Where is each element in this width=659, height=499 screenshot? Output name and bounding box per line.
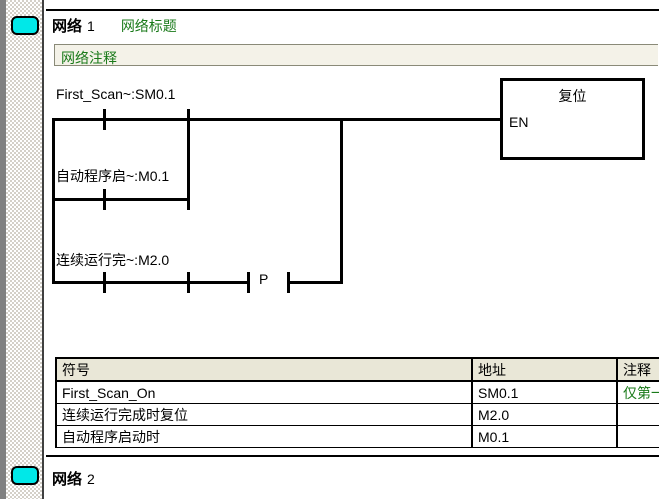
network-header-2[interactable]: 网络2 (52, 468, 95, 489)
network-header-1[interactable]: 网络1网络标题 (52, 15, 177, 36)
instruction-box-reset[interactable]: 复位 EN (500, 78, 645, 160)
network-marker-1[interactable] (11, 16, 39, 35)
column-header-symbol[interactable]: 符号 (57, 359, 473, 380)
symbol-table: 符号 地址 注释 First_Scan_On SM0.1 仅第一个扫 连续运行完… (55, 357, 659, 448)
cell-symbol[interactable]: 自动程序启动时 (57, 426, 473, 447)
table-row[interactable]: 自动程序启动时 M0.1 (57, 426, 659, 448)
left-gutter (0, 0, 44, 499)
gutter-hatch-pattern (6, 0, 42, 499)
network-number-1: 1 (87, 18, 95, 34)
instruction-box-en-label: EN (509, 114, 528, 130)
rung-3-wire-d (290, 281, 343, 284)
rung-1-wire-b (106, 118, 188, 121)
rung-3-wire-c (190, 281, 248, 284)
network-comment-text: 网络注释 (61, 48, 117, 68)
rung-1-wire-a (52, 118, 104, 121)
cell-symbol[interactable]: 连续运行完成时复位 (57, 404, 473, 425)
rung-2-wire-a (52, 198, 104, 201)
rung-3-wire-b (106, 281, 188, 284)
rung-2-operand[interactable]: 自动程序启~:M0.1 (56, 166, 169, 186)
rung-1-operand[interactable]: First_Scan~:SM0.1 (56, 86, 175, 102)
rung-1-wire-c (190, 118, 502, 121)
editor-content-pane: 网络1网络标题 网络注释 First_Scan~:SM0.1 自动程序启~:M0… (44, 0, 659, 499)
network-comment-box[interactable]: 网络注释 (54, 44, 658, 66)
positive-transition-icon: P (259, 271, 268, 287)
table-row[interactable]: First_Scan_On SM0.1 仅第一个扫 (57, 382, 659, 404)
instruction-box-title: 复位 (503, 86, 642, 106)
rung-2-wire-b (106, 198, 188, 201)
cell-comment[interactable]: 仅第一个扫 (618, 382, 659, 403)
network-marker-2[interactable] (11, 466, 39, 485)
ladder-editor-root: 网络1网络标题 网络注释 First_Scan~:SM0.1 自动程序启~:M0… (0, 0, 659, 499)
rung-2-contact-2[interactable] (187, 189, 190, 210)
rung-3-contact-3-left-bar[interactable] (247, 272, 250, 293)
column-header-comment[interactable]: 注释 (618, 359, 659, 380)
left-power-rail (52, 118, 55, 284)
branch-connector-1 (187, 118, 190, 200)
network-number-2: 2 (87, 471, 95, 487)
network-divider-bottom (46, 455, 659, 457)
cell-address[interactable]: SM0.1 (473, 382, 618, 403)
cell-comment[interactable] (618, 404, 659, 425)
network-divider-top (46, 9, 659, 11)
rung-3-wire-a (52, 281, 104, 284)
symbol-table-header-row: 符号 地址 注释 (57, 359, 659, 382)
cell-comment[interactable] (618, 426, 659, 447)
cell-address[interactable]: M2.0 (473, 404, 618, 425)
network-label-1: 网络 (52, 18, 82, 35)
column-header-address[interactable]: 地址 (473, 359, 618, 380)
cell-address[interactable]: M0.1 (473, 426, 618, 447)
network-title-1[interactable]: 网络标题 (121, 18, 177, 34)
ladder-diagram: First_Scan~:SM0.1 自动程序启~:M0.1 连续运行完~:M2.… (44, 70, 659, 340)
cell-symbol[interactable]: First_Scan_On (57, 382, 473, 403)
network-label-2: 网络 (52, 471, 82, 488)
branch-connector-2 (340, 118, 343, 283)
table-row[interactable]: 连续运行完成时复位 M2.0 (57, 404, 659, 426)
rung-3-operand[interactable]: 连续运行完~:M2.0 (56, 250, 169, 270)
